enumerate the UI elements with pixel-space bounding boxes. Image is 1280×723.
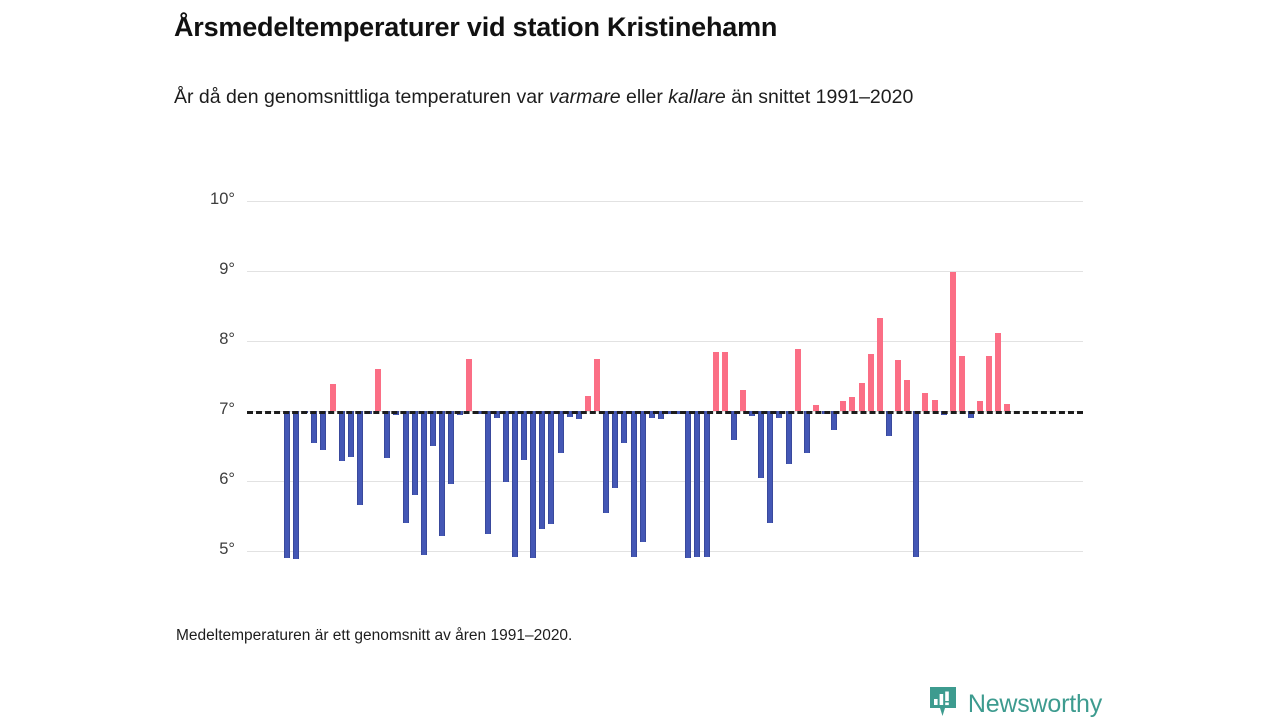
bar-2009[interactable] — [904, 380, 910, 412]
bar-1988[interactable] — [713, 352, 719, 411]
bar-1976[interactable] — [603, 411, 609, 513]
bar-2017[interactable] — [977, 401, 983, 412]
bar-1986[interactable] — [694, 411, 700, 557]
bar-2020[interactable] — [1004, 404, 1010, 411]
bar-2004[interactable] — [859, 383, 865, 411]
bar-1987[interactable] — [704, 411, 710, 557]
y-axis-tick-label: 7° — [175, 400, 235, 419]
bar-2018[interactable] — [986, 356, 992, 411]
bar-1947[interactable] — [339, 411, 345, 461]
bar-1969[interactable] — [539, 411, 545, 529]
newsworthy-wordmark: Newsworthy — [968, 690, 1102, 719]
bar-1991[interactable] — [740, 390, 746, 411]
y-axis-tick-label: 5° — [175, 540, 235, 559]
bar-2010[interactable] — [913, 411, 919, 557]
bar-1978[interactable] — [621, 411, 627, 443]
bar-1957[interactable] — [430, 411, 436, 446]
newsworthy-brand: Newsworthy — [928, 686, 1102, 723]
bar-1971[interactable] — [558, 411, 564, 453]
bar-1965[interactable] — [503, 411, 509, 482]
bar-1948[interactable] — [348, 411, 354, 457]
y-axis-tick-label: 6° — [175, 470, 235, 489]
bar-1985[interactable] — [685, 411, 691, 558]
bar-1954[interactable] — [403, 411, 409, 523]
bar-1944[interactable] — [311, 411, 317, 443]
y-axis-tick-label: 8° — [175, 330, 235, 349]
bar-1977[interactable] — [612, 411, 618, 488]
gridline — [247, 551, 1083, 552]
y-axis-tick-label: 9° — [175, 260, 235, 279]
bar-1966[interactable] — [512, 411, 518, 557]
bar-1990[interactable] — [731, 411, 737, 440]
gridline — [247, 481, 1083, 482]
bar-1946[interactable] — [330, 384, 336, 411]
newsworthy-logo-icon — [928, 686, 958, 723]
bar-1979[interactable] — [631, 411, 637, 557]
bar-1997[interactable] — [795, 349, 801, 411]
bar-1952[interactable] — [384, 411, 390, 458]
gridline — [247, 201, 1083, 202]
bar-2007[interactable] — [886, 411, 892, 436]
bar-1980[interactable] — [640, 411, 646, 542]
bar-1956[interactable] — [421, 411, 427, 555]
bar-2006[interactable] — [877, 318, 883, 411]
bar-2002[interactable] — [840, 401, 846, 412]
bar-1955[interactable] — [412, 411, 418, 495]
bar-2011[interactable] — [922, 393, 928, 411]
bar-1974[interactable] — [585, 396, 591, 411]
gridline — [247, 271, 1083, 272]
bar-1967[interactable] — [521, 411, 527, 460]
bar-2015[interactable] — [959, 356, 965, 411]
bar-1998[interactable] — [804, 411, 810, 453]
bar-chart: 5°6°7°8°9°10° — [0, 0, 1280, 720]
bar-2003[interactable] — [849, 397, 855, 411]
bar-1959[interactable] — [448, 411, 454, 484]
bar-1993[interactable] — [758, 411, 764, 478]
bar-1970[interactable] — [548, 411, 554, 524]
y-axis-tick-label: 10° — [175, 190, 235, 209]
bar-1996[interactable] — [786, 411, 792, 464]
bar-2008[interactable] — [895, 360, 901, 411]
bar-1945[interactable] — [320, 411, 326, 450]
bar-1963[interactable] — [485, 411, 491, 534]
bar-1942[interactable] — [293, 411, 299, 559]
bar-1975[interactable] — [594, 359, 600, 412]
bar-1968[interactable] — [530, 411, 536, 558]
bar-1958[interactable] — [439, 411, 445, 536]
baseline-average — [247, 411, 1083, 414]
bar-1994[interactable] — [767, 411, 773, 523]
chart-note: Medeltemperaturen är ett genomsnitt av å… — [176, 627, 572, 645]
bar-1949[interactable] — [357, 411, 363, 505]
gridline — [247, 341, 1083, 342]
chart-page: Årsmedeltemperaturer vid station Kristin… — [0, 0, 1280, 720]
bar-2019[interactable] — [995, 333, 1001, 411]
bar-1951[interactable] — [375, 369, 381, 411]
bar-2005[interactable] — [868, 354, 874, 411]
bar-2014[interactable] — [950, 272, 956, 411]
bar-1941[interactable] — [284, 411, 290, 558]
bar-1989[interactable] — [722, 352, 728, 412]
bar-1961[interactable] — [466, 359, 472, 412]
bar-2012[interactable] — [932, 400, 938, 411]
